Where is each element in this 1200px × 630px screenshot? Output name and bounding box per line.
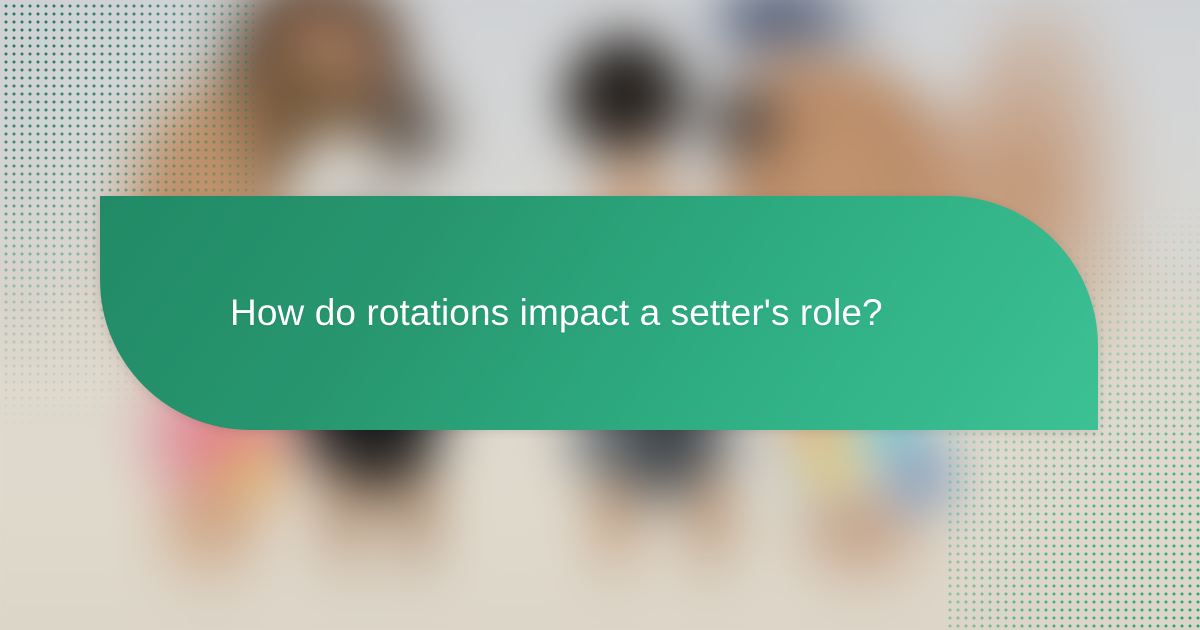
headline-banner: How do rotations impact a setter's role? xyxy=(100,196,1098,430)
photo-figure-1-legs xyxy=(145,485,275,595)
photo-figure-4-shadow xyxy=(685,65,795,175)
share-card-canvas: How do rotations impact a setter's role? xyxy=(0,0,1200,630)
photo-figure-3-leg-right xyxy=(675,470,745,590)
photo-figure-2-leg-left xyxy=(310,460,380,590)
headline-title: How do rotations impact a setter's role? xyxy=(100,290,1003,336)
photo-figure-4-legs xyxy=(780,495,940,595)
photo-figure-3-leg-left xyxy=(580,470,650,590)
photo-figure-2-head xyxy=(352,75,462,190)
photo-figure-2-leg-right xyxy=(380,460,450,590)
photo-net-pole xyxy=(18,10,27,340)
